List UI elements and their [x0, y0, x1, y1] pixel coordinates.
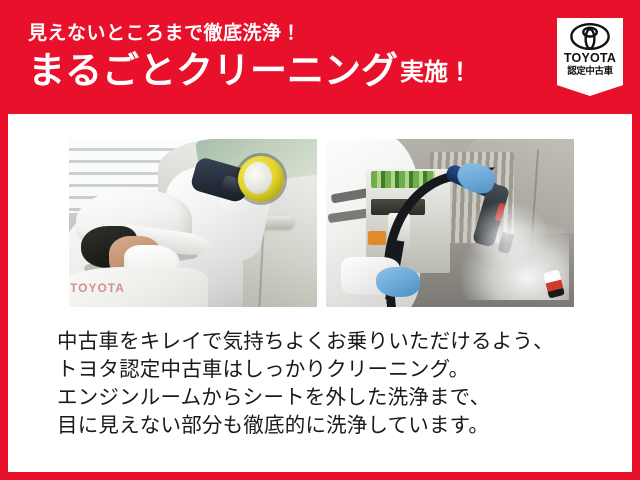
photo-row: TOYOTA	[69, 139, 575, 307]
content-panel: TOYOTA	[8, 114, 632, 472]
photo-steam-cleaning-seat	[326, 139, 574, 307]
header-text-block: 見えないところまで徹底洗浄！ まるごとクリーニング 実施！	[28, 22, 528, 91]
body-line-1: 中古車をキレイで気持ちよくお乗りいただけるよう、	[57, 328, 577, 356]
body-line-3: エンジンルームからシートを外した洗浄まで、	[57, 384, 577, 412]
header-eyebrow: 見えないところまで徹底洗浄！	[28, 22, 528, 46]
header-headline: まるごとクリーニング	[28, 51, 398, 91]
badge-wordmark: TOYOTA	[564, 51, 616, 65]
body-line-4: 目に見えない部分も徹底的に洗浄しています。	[57, 412, 577, 440]
body-line-2: トヨタ認定中古車はしっかりクリーニング。	[57, 356, 577, 384]
badge-sub-label: 認定中古車	[567, 66, 613, 78]
photo-polishing-car-body: TOYOTA	[69, 139, 317, 307]
banner-header: 見えないところまで徹底洗浄！ まるごとクリーニング 実施！ TOYOTA 認定中…	[0, 0, 640, 114]
header-headline-suffix: 実施！	[400, 57, 472, 91]
toyota-certified-badge: TOYOTA 認定中古車	[557, 18, 623, 96]
toyota-emblem-icon	[570, 23, 610, 50]
content-panel-frame: TOYOTA	[0, 114, 640, 480]
body-copy-block: 中古車をキレイで気持ちよくお乗りいただけるよう、 トヨタ認定中古車はしっかりクリ…	[57, 328, 577, 440]
toyota-cleaning-banner: 見えないところまで徹底洗浄！ まるごとクリーニング 実施！ TOYOTA 認定中…	[0, 0, 640, 480]
badge-inner: TOYOTA 認定中古車	[557, 18, 623, 96]
photo-uniform-logo: TOYOTA	[70, 281, 125, 295]
header-headline-row: まるごとクリーニング 実施！	[28, 51, 528, 91]
